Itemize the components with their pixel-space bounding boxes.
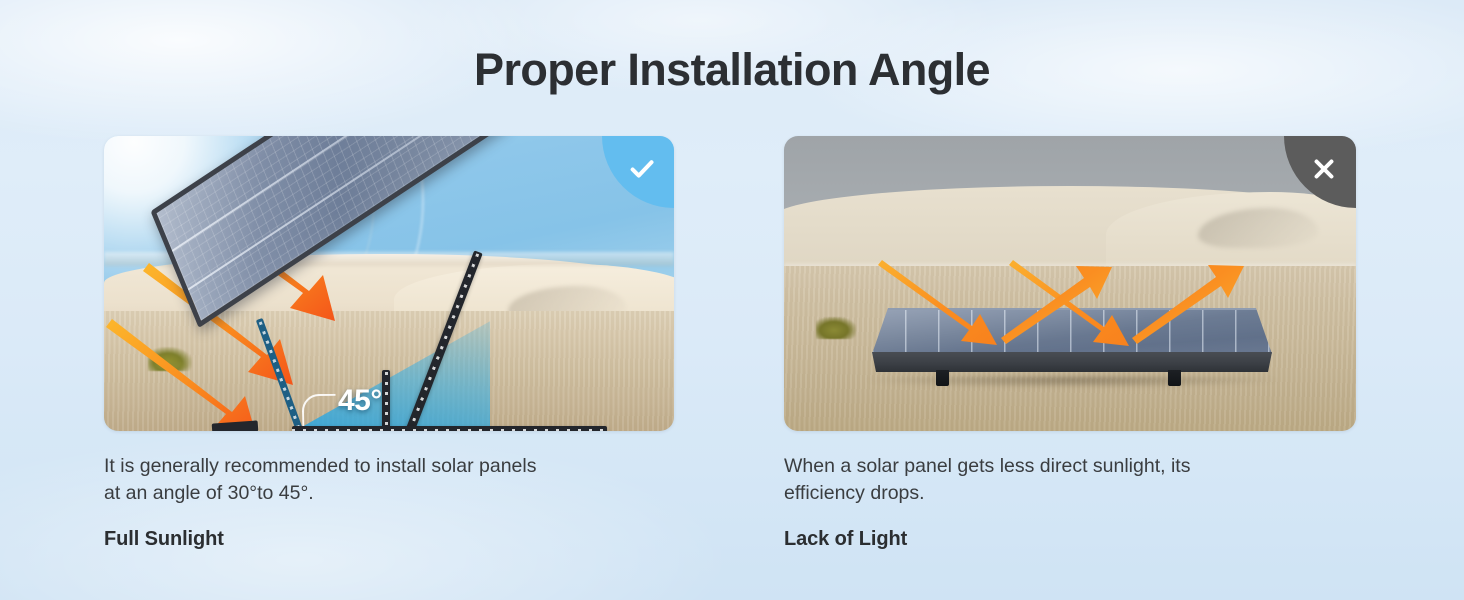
angle-label: 45° [338,384,382,418]
caption-good-line2: at an angle of 30°to 45°. [104,480,674,507]
caption-good: It is generally recommended to install s… [104,453,674,507]
caption-bad-line2: efficiency drops. [784,480,1344,507]
solar-panel-assembly-tilted: 45° [192,188,592,420]
angle-wedge-rail [256,318,303,431]
subtitle-bad: Lack of Light [784,528,1356,551]
sunlight-arrows-reflected [784,136,1356,431]
check-icon [627,154,657,184]
caption-good-line1: It is generally recommended to install s… [104,455,536,477]
card-bad-angle: When a solar panel gets less direct sunl… [784,136,1356,551]
caption-bad-line1: When a solar panel gets less direct sunl… [784,455,1190,477]
support-rail-middle [382,370,390,428]
subtitle-good: Full Sunlight [104,528,674,551]
page-title: Proper Installation Angle [0,44,1464,96]
illustration-flat-panel [784,136,1356,431]
close-icon [1310,155,1338,183]
support-rail-base [292,426,607,431]
angle-arc-icon [302,394,337,429]
illustration-tilted-panel: 45° [104,136,674,431]
card-good-angle: 45° It is generally recommended to insta… [104,136,674,551]
caption-bad: When a solar panel gets less direct sunl… [784,453,1344,507]
